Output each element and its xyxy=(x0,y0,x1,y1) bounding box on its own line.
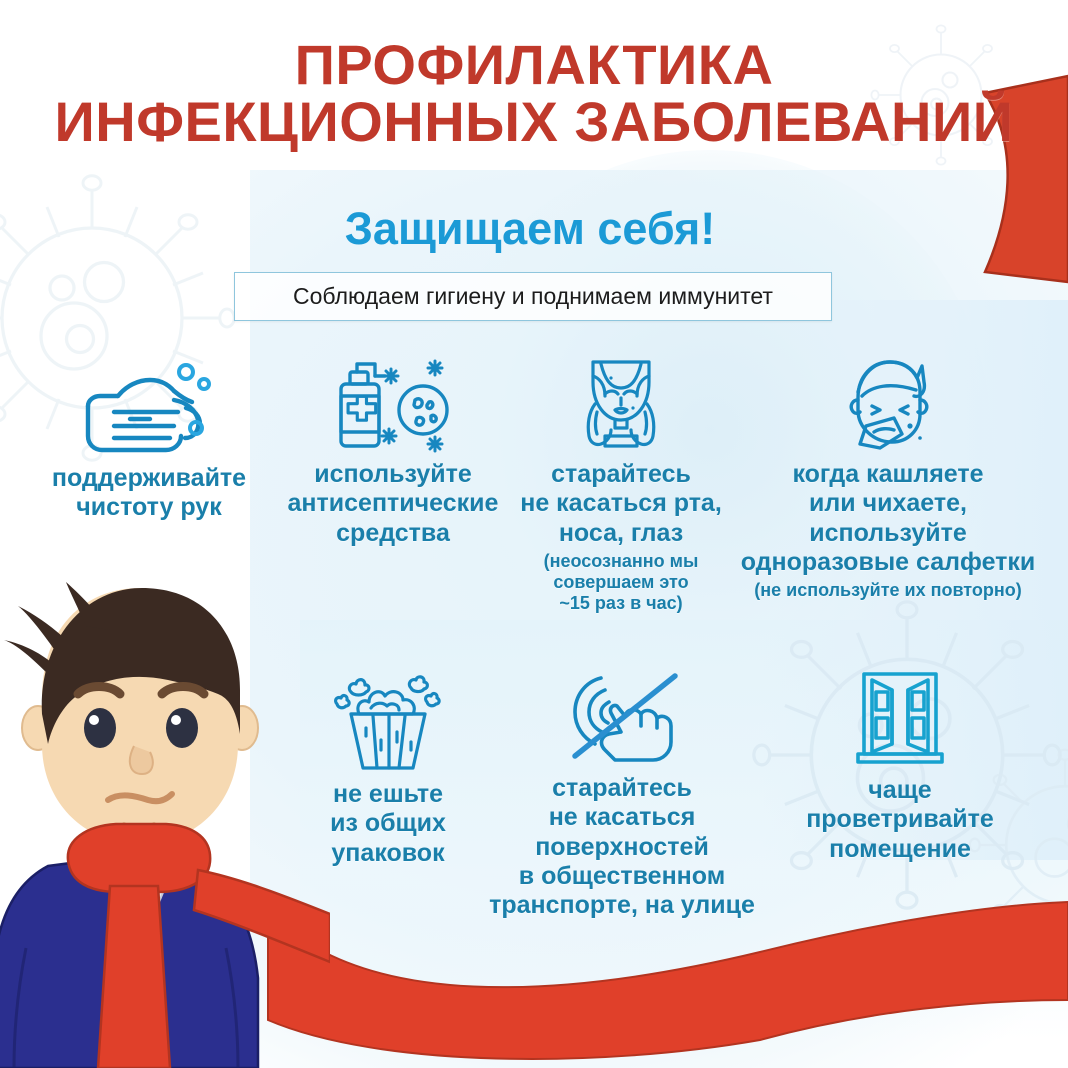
open-window-icon xyxy=(760,664,1040,770)
tip-label: используйтеантисептическиесредства xyxy=(278,460,508,548)
tip-label: старайтесьне касаться рта,носа, глаз xyxy=(506,460,736,548)
tagline-text: Соблюдаем гигиену и поднимаем иммунитет xyxy=(293,283,773,310)
tagline-box: Соблюдаем гигиену и поднимаем иммунитет xyxy=(234,272,832,321)
poster-subtitle: Защищаем себя! xyxy=(220,206,840,251)
poster-title: ПРОФИЛАКТИКА ИНФЕКЦИОННЫХ ЗАБОЛЕВАНИЙ xyxy=(0,36,1068,150)
tip-dont-touch-face: старайтесьне касаться рта,носа, глаз (не… xyxy=(506,348,736,614)
sneezing-tissue-icon xyxy=(728,348,1048,454)
infographic-poster: ПРОФИЛАКТИКА ИНФЕКЦИОННЫХ ЗАБОЛЕВАНИЙ За… xyxy=(0,0,1068,1068)
tip-washing-hands: поддерживайтечистоту рук xyxy=(18,352,280,523)
tip-label: когда кашляетеили чихаете,используйтеодн… xyxy=(728,460,1048,577)
face-hands-icon xyxy=(506,348,736,454)
tip-sublabel: (не используйте их повторно) xyxy=(728,580,1048,601)
tip-sublabel: (неосознанно мысовершаем это~15 раз в ча… xyxy=(506,551,736,614)
tip-antiseptic: используйтеантисептическиесредства xyxy=(278,348,508,548)
tip-cough-tissue: когда кашляетеили чихаете,используйтеодн… xyxy=(728,348,1048,601)
sanitizer-bottle-icon xyxy=(278,348,508,454)
boy-character-illustration xyxy=(0,548,330,1068)
tip-no-touch-surfaces: старайтесьне касатьсяповерхностейв общес… xyxy=(472,662,772,920)
scarf xyxy=(68,824,210,892)
tip-label: поддерживайтечистоту рук xyxy=(18,464,280,523)
title-line-2: ИНФЕКЦИОННЫХ ЗАБОЛЕВАНИЙ xyxy=(0,93,1068,150)
tip-ventilate-room: чащепроветривайтепомещение xyxy=(760,664,1040,864)
title-line-1: ПРОФИЛАКТИКА xyxy=(0,36,1068,93)
washing-hands-icon xyxy=(18,352,280,458)
tip-label: старайтесьне касатьсяповерхностейв общес… xyxy=(472,774,772,920)
no-touch-surface-icon xyxy=(472,662,772,768)
tip-label: чащепроветривайтепомещение xyxy=(760,776,1040,864)
